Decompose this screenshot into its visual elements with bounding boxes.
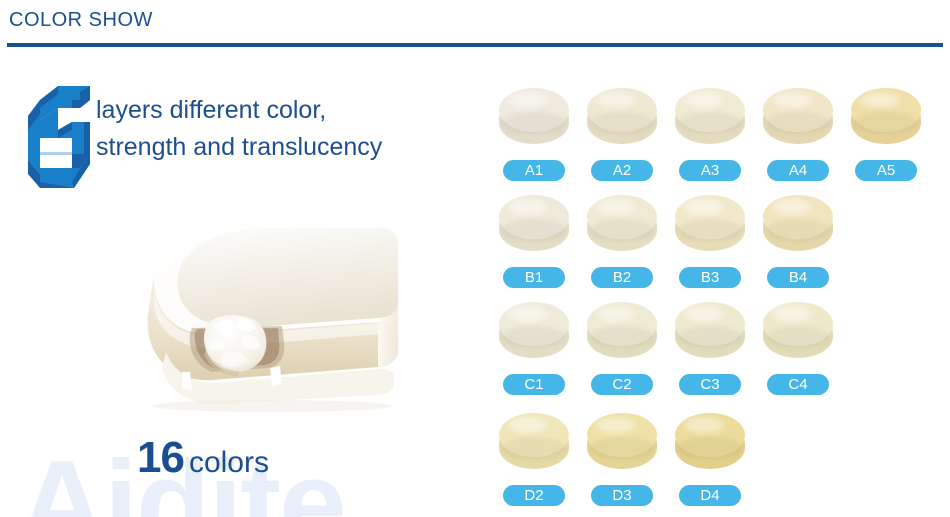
shade-label-a5[interactable]: A5 — [855, 160, 917, 181]
shade-label-b3[interactable]: B3 — [679, 267, 741, 288]
shade-cell-c3[interactable]: C3 — [672, 302, 748, 406]
shade-disc-b1 — [499, 195, 569, 257]
disc-shading — [590, 326, 654, 348]
shade-disc-b3 — [675, 195, 745, 257]
feature-tagline: layers different color, strength and tra… — [96, 92, 476, 166]
shade-row-d: D2 D3 D4 — [496, 413, 950, 517]
disc-highlight — [508, 417, 548, 433]
disc-shading — [766, 219, 830, 241]
disc-highlight — [596, 306, 636, 322]
tagline-line-2: strength and translucency — [96, 129, 476, 166]
shade-label-b1[interactable]: B1 — [503, 267, 565, 288]
page-title: COLOR SHOW — [9, 9, 153, 32]
shade-cell-b1[interactable]: B1 — [496, 195, 572, 299]
shade-label-a1[interactable]: A1 — [503, 160, 565, 181]
shade-label-b4[interactable]: B4 — [767, 267, 829, 288]
disc-highlight — [596, 417, 636, 433]
colors-count-word: colors — [189, 446, 269, 479]
disc-highlight — [684, 306, 724, 322]
disc-highlight — [508, 306, 548, 322]
shade-label-d2[interactable]: D2 — [503, 485, 565, 506]
disc-shading — [590, 219, 654, 241]
shade-cell-c4[interactable]: C4 — [760, 302, 836, 406]
disc-shading — [502, 112, 566, 134]
shade-disc-a4 — [763, 88, 833, 150]
shade-row-a: A1 A2 A3 — [496, 88, 950, 192]
disc-shading — [502, 437, 566, 459]
disc-shading — [678, 326, 742, 348]
disc-highlight — [684, 199, 724, 215]
shade-disc-c1 — [499, 302, 569, 364]
disc-highlight — [860, 92, 900, 108]
shade-disc-d4 — [675, 413, 745, 475]
shade-row-b: B1 B2 B3 — [496, 195, 950, 299]
shade-disc-a5 — [851, 88, 921, 150]
disc-highlight — [596, 92, 636, 108]
shade-label-c3[interactable]: C3 — [679, 374, 741, 395]
shade-cell-a2[interactable]: A2 — [584, 88, 660, 192]
shade-label-d3[interactable]: D3 — [591, 485, 653, 506]
shade-cell-a3[interactable]: A3 — [672, 88, 748, 192]
shade-label-b2[interactable]: B2 — [591, 267, 653, 288]
zirconia-block-image — [62, 222, 432, 414]
shade-cell-c2[interactable]: C2 — [584, 302, 660, 406]
disc-shading — [678, 437, 742, 459]
disc-highlight — [508, 199, 548, 215]
shade-cell-a5[interactable]: A5 — [848, 88, 924, 192]
disc-highlight — [508, 92, 548, 108]
disc-highlight — [772, 306, 812, 322]
disc-shading — [502, 326, 566, 348]
disc-shading — [678, 219, 742, 241]
disc-shading — [854, 112, 918, 134]
shade-cell-b3[interactable]: B3 — [672, 195, 748, 299]
shade-disc-b4 — [763, 195, 833, 257]
disc-highlight — [596, 199, 636, 215]
shade-label-d4[interactable]: D4 — [679, 485, 741, 506]
tagline-line-1: layers different color, — [96, 96, 326, 124]
shade-cell-a1[interactable]: A1 — [496, 88, 572, 192]
disc-highlight — [684, 417, 724, 433]
disc-shading — [678, 112, 742, 134]
disc-shading — [766, 326, 830, 348]
shade-cell-d3[interactable]: D3 — [584, 413, 660, 517]
shade-label-c4[interactable]: C4 — [767, 374, 829, 395]
left-panel: Aidite — [0, 50, 480, 517]
shade-grid: A1 A2 A3 — [496, 88, 950, 517]
color-show-page: COLOR SHOW Aidite — [0, 0, 950, 517]
colors-count: 16colors — [137, 433, 269, 483]
shade-label-c1[interactable]: C1 — [503, 374, 565, 395]
shade-label-c2[interactable]: C2 — [591, 374, 653, 395]
shade-disc-a1 — [499, 88, 569, 150]
colors-count-number: 16 — [137, 433, 184, 482]
shade-cell-b4[interactable]: B4 — [760, 195, 836, 299]
disc-highlight — [772, 199, 812, 215]
shade-disc-c2 — [587, 302, 657, 364]
shade-disc-b2 — [587, 195, 657, 257]
shade-disc-c4 — [763, 302, 833, 364]
shade-disc-c3 — [675, 302, 745, 364]
six-layers-numeral-icon — [28, 86, 94, 188]
page-header: COLOR SHOW — [0, 0, 950, 50]
shade-disc-a3 — [675, 88, 745, 150]
shade-disc-a2 — [587, 88, 657, 150]
shade-cell-d2[interactable]: D2 — [496, 413, 572, 517]
disc-highlight — [772, 92, 812, 108]
disc-highlight — [684, 92, 724, 108]
disc-shading — [502, 219, 566, 241]
shade-disc-d2 — [499, 413, 569, 475]
shade-row-c: C1 C2 C3 — [496, 302, 950, 406]
disc-shading — [590, 112, 654, 134]
header-divider — [7, 43, 943, 47]
disc-shading — [590, 437, 654, 459]
shade-cell-d4[interactable]: D4 — [672, 413, 748, 517]
shade-label-a3[interactable]: A3 — [679, 160, 741, 181]
shade-label-a4[interactable]: A4 — [767, 160, 829, 181]
shade-cell-b2[interactable]: B2 — [584, 195, 660, 299]
shade-label-a2[interactable]: A2 — [591, 160, 653, 181]
shade-cell-a4[interactable]: A4 — [760, 88, 836, 192]
disc-shading — [766, 112, 830, 134]
shade-disc-d3 — [587, 413, 657, 475]
shade-cell-c1[interactable]: C1 — [496, 302, 572, 406]
